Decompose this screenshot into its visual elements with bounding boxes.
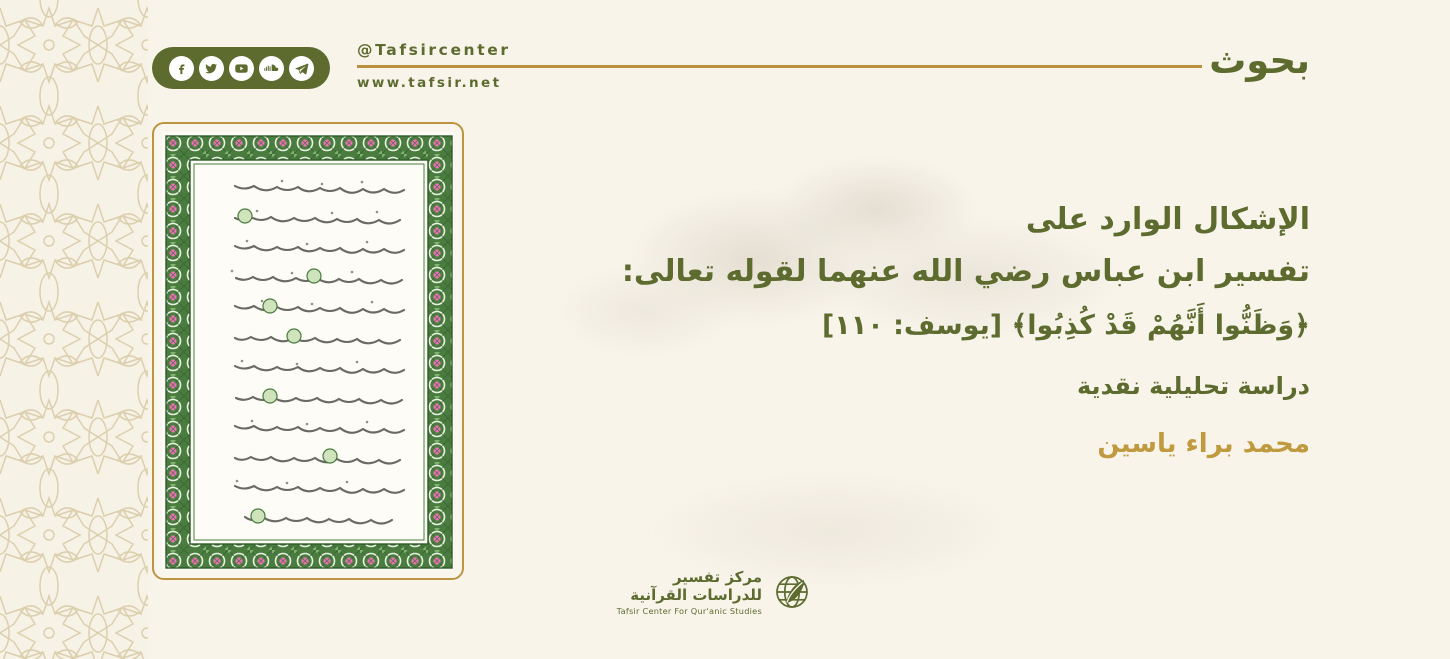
quran-page-image (162, 132, 454, 570)
banner-canvas: @Tafsircenter www.tafsir.net بحوث (0, 0, 1450, 659)
title-line-1: الإشكال الوارد على (510, 196, 1310, 244)
account-handle: @Tafsircenter (357, 40, 1202, 60)
subtitle: دراسة تحليلية نقدية (510, 364, 1310, 408)
logo-arabic-name: مركز تفسير للدراسات القرآنية (617, 568, 762, 604)
account-info: @Tafsircenter www.tafsir.net (357, 40, 1202, 92)
header-divider (357, 65, 1202, 68)
logo-text: مركز تفسير للدراسات القرآنية Tafsir Cent… (617, 568, 762, 617)
quran-page-frame (152, 122, 464, 580)
globe-leaf-icon (771, 571, 813, 613)
logo-english-name: Tafsir Center For Qur'anic Studies (617, 606, 762, 617)
author-name: محمد براء ياسين (510, 422, 1310, 466)
section-label: بحوث (1209, 36, 1310, 86)
quran-verse-line: ﴿وَظَنُّوا أَنَّهُمْ قَدْ كُذِبُوا﴾ [يوس… (510, 302, 1310, 350)
facebook-icon[interactable] (169, 56, 194, 81)
telegram-icon[interactable] (289, 56, 314, 81)
soundcloud-icon[interactable] (259, 56, 284, 81)
tafsir-center-logo: مركز تفسير للدراسات القرآنية Tafsir Cent… (637, 568, 813, 616)
title-line-2: تفسير ابن عباس رضي الله عنهما لقوله تعال… (510, 248, 1310, 296)
website-url: www.tafsir.net (357, 74, 1202, 92)
page-header: @Tafsircenter www.tafsir.net بحوث (0, 0, 1450, 112)
title-block: الإشكال الوارد على تفسير ابن عباس رضي ال… (510, 196, 1310, 466)
youtube-icon[interactable] (229, 56, 254, 81)
twitter-icon[interactable] (199, 56, 224, 81)
social-links-bar[interactable] (152, 47, 330, 89)
